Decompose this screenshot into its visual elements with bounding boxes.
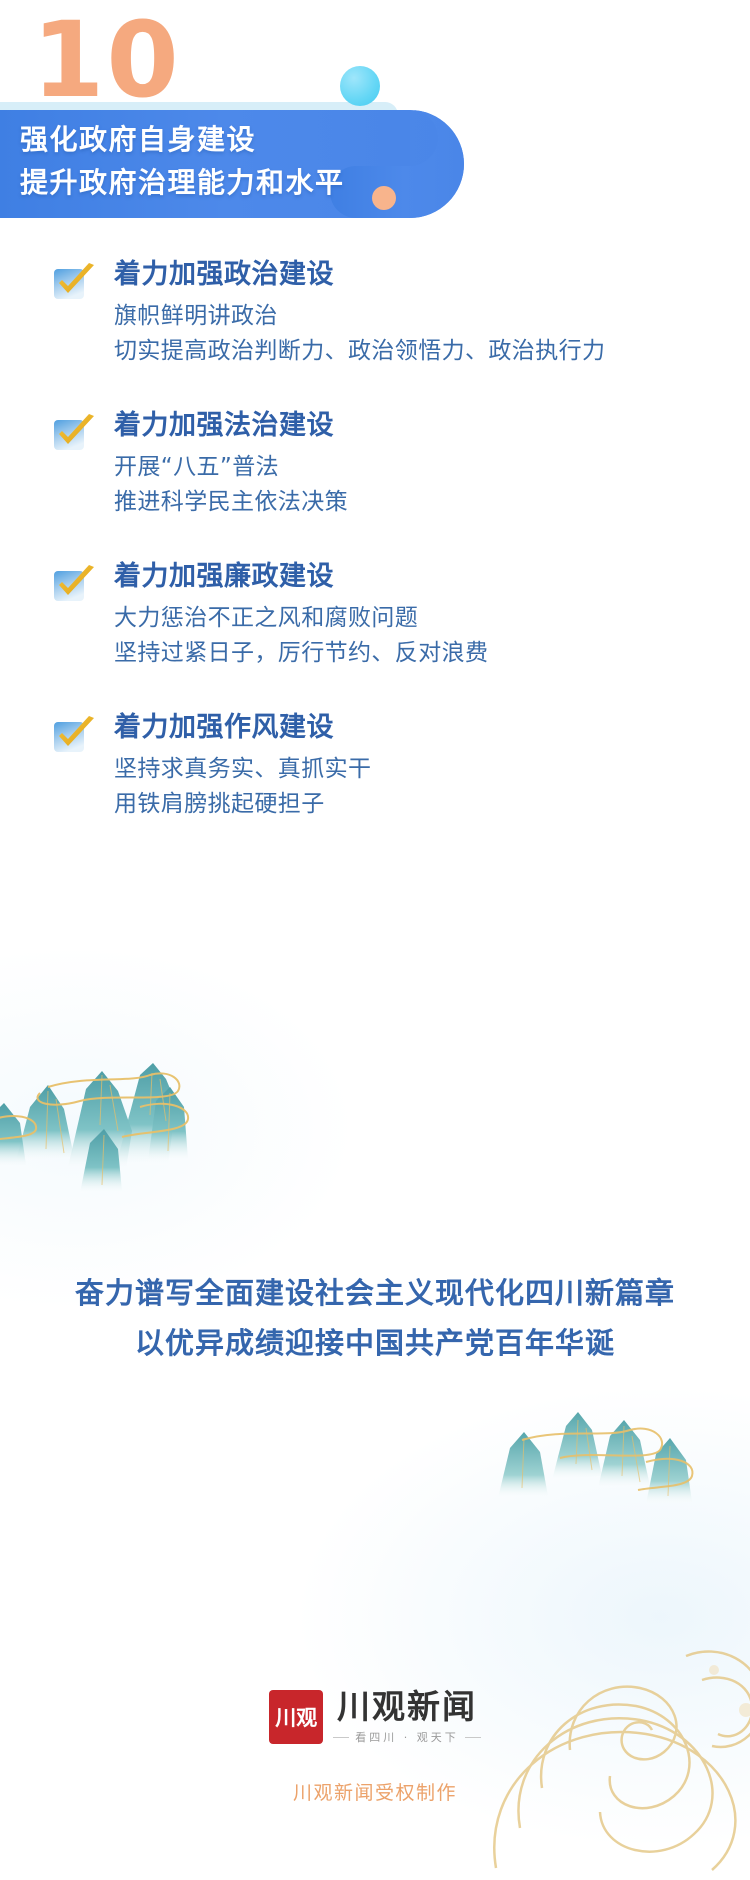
checklist: 着力加强政治建设 旗帜鲜明讲政治 切实提高政治判断力、政治领悟力、政治执行力 着… xyxy=(0,258,750,862)
list-item-line: 开展“八五”普法 xyxy=(114,450,750,485)
list-item-title: 着力加强法治建设 xyxy=(114,409,750,443)
header-banner: 10 强化政府自身建设 xyxy=(0,0,750,252)
list-item: 着力加强政治建设 旗帜鲜明讲政治 切实提高政治判断力、政治领悟力、政治执行力 xyxy=(0,258,750,369)
list-item-line: 大力惩治不正之风和腐败问题 xyxy=(114,601,750,636)
list-item-lines: 坚持求真务实、真抓实干 用铁肩膀挑起硬担子 xyxy=(114,752,750,822)
seal-icon: 川观 xyxy=(269,1690,323,1744)
check-square-icon xyxy=(52,413,98,451)
tagline-text: 看四川 · 观天下 xyxy=(355,1729,459,1745)
slogan-line-2: 以优异成绩迎接中国共产党百年华诞 xyxy=(0,1318,750,1368)
list-item-line: 推进科学民主依法决策 xyxy=(114,485,750,520)
list-item-line: 旗帜鲜明讲政治 xyxy=(114,299,750,334)
infographic-page: 10 强化政府自身建设 xyxy=(0,0,750,1880)
list-item: 着力加强廉政建设 大力惩治不正之风和腐败问题 坚持过紧日子，厉行节约、反对浪费 xyxy=(0,560,750,671)
list-item-line: 坚持过紧日子，厉行节约、反对浪费 xyxy=(114,636,750,671)
list-item-lines: 旗帜鲜明讲政治 切实提高政治判断力、政治领悟力、政治执行力 xyxy=(114,299,750,369)
list-item-lines: 开展“八五”普法 推进科学民主依法决策 xyxy=(114,450,750,520)
slogan-line-1: 奋力谱写全面建设社会主义现代化四川新篇章 xyxy=(0,1268,750,1318)
logo-name: 川观新闻 xyxy=(337,1688,477,1726)
logo-text-group: 川观新闻 看四川 · 观天下 xyxy=(333,1688,481,1745)
check-square-icon xyxy=(52,564,98,602)
accent-dot-orange xyxy=(372,186,396,210)
banner-title-line-1: 强化政府自身建设 xyxy=(20,118,450,161)
section-number: 10 xyxy=(32,8,181,112)
list-item-line: 用铁肩膀挑起硬担子 xyxy=(114,787,750,822)
list-item-title: 着力加强廉政建设 xyxy=(114,560,750,594)
accent-dot-cyan xyxy=(340,66,380,106)
list-item-line: 坚持求真务实、真抓实干 xyxy=(114,752,750,787)
list-item-line: 切实提高政治判断力、政治领悟力、政治执行力 xyxy=(114,334,750,369)
tagline-rule-right xyxy=(465,1737,481,1738)
check-square-icon xyxy=(52,262,98,300)
logo-tagline: 看四川 · 观天下 xyxy=(333,1729,481,1745)
slogan-block: 奋力谱写全面建设社会主义现代化四川新篇章 以优异成绩迎接中国共产党百年华诞 xyxy=(0,1268,750,1368)
list-item-lines: 大力惩治不正之风和腐败问题 坚持过紧日子，厉行节约、反对浪费 xyxy=(114,601,750,671)
list-item: 着力加强作风建设 坚持求真务实、真抓实干 用铁肩膀挑起硬担子 xyxy=(0,711,750,822)
tagline-rule-left xyxy=(333,1737,349,1738)
list-item-title: 着力加强政治建设 xyxy=(114,258,750,292)
brand-logo: 川观 川观新闻 看四川 · 观天下 xyxy=(0,1688,750,1745)
list-item: 着力加强法治建设 开展“八五”普法 推进科学民主依法决策 xyxy=(0,409,750,520)
mountain-illustration-left xyxy=(0,1045,390,1205)
footer-attribution: 川观新闻受权制作 xyxy=(0,1778,750,1805)
mountain-illustration-right xyxy=(470,1400,750,1530)
check-square-icon xyxy=(52,715,98,753)
list-item-title: 着力加强作风建设 xyxy=(114,711,750,745)
